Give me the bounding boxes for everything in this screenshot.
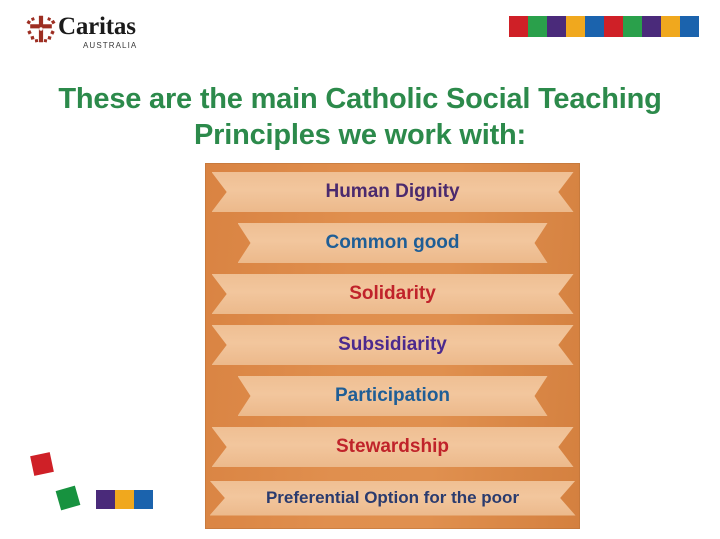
principle-row: Stewardship — [205, 425, 580, 469]
brand-logo: Caritas AUSTRALIA — [26, 12, 146, 54]
swatch-purple — [547, 16, 566, 37]
deco-square-red — [30, 452, 54, 476]
deco-square-purple — [96, 490, 115, 509]
principle-row: Preferential Option for the poor — [205, 476, 580, 520]
principles-panel: Human DignityCommon goodSolidaritySubsid… — [205, 163, 580, 529]
principle-label: Subsidiarity — [338, 334, 447, 356]
principle-ribbon-2[interactable]: Solidarity — [212, 274, 574, 314]
swatch-orange — [566, 16, 585, 37]
swatch-blue — [585, 16, 604, 37]
swatch-green-2 — [623, 16, 642, 37]
deco-square-row — [96, 490, 153, 509]
principle-row: Participation — [205, 374, 580, 418]
principle-label: Preferential Option for the poor — [266, 488, 519, 508]
swatch-blue-2 — [680, 16, 699, 37]
principle-label: Solidarity — [349, 283, 436, 305]
deco-square-orange — [115, 490, 134, 509]
principle-ribbon-5[interactable]: Stewardship — [212, 427, 574, 467]
principle-label: Participation — [335, 385, 450, 407]
principle-ribbon-1[interactable]: Common good — [238, 223, 548, 263]
principle-label: Stewardship — [336, 436, 449, 458]
swatch-red — [509, 16, 528, 37]
brand-wordmark: Caritas — [58, 14, 136, 40]
principle-label: Human Dignity — [325, 181, 459, 203]
swatch-green — [528, 16, 547, 37]
swatch-purple-2 — [642, 16, 661, 37]
principle-row: Human Dignity — [205, 170, 580, 214]
brand-subtext: AUSTRALIA — [83, 41, 137, 50]
principle-row: Common good — [205, 221, 580, 265]
principle-ribbon-0[interactable]: Human Dignity — [212, 172, 574, 212]
decorative-squares — [20, 440, 170, 530]
principle-row: Solidarity — [205, 272, 580, 316]
swatch-red-2 — [604, 16, 623, 37]
principle-ribbon-3[interactable]: Subsidiarity — [212, 325, 574, 365]
deco-square-blue — [134, 490, 153, 509]
swatch-orange-2 — [661, 16, 680, 37]
principle-row: Subsidiarity — [205, 323, 580, 367]
deco-square-green — [56, 486, 81, 511]
page-title: These are the main Catholic Social Teach… — [18, 81, 702, 153]
caritas-cross-icon — [26, 14, 56, 44]
principle-ribbon-6[interactable]: Preferential Option for the poor — [210, 481, 576, 516]
principle-ribbon-4[interactable]: Participation — [238, 376, 548, 416]
principle-label: Common good — [325, 232, 459, 254]
brand-colour-strip — [509, 16, 699, 37]
